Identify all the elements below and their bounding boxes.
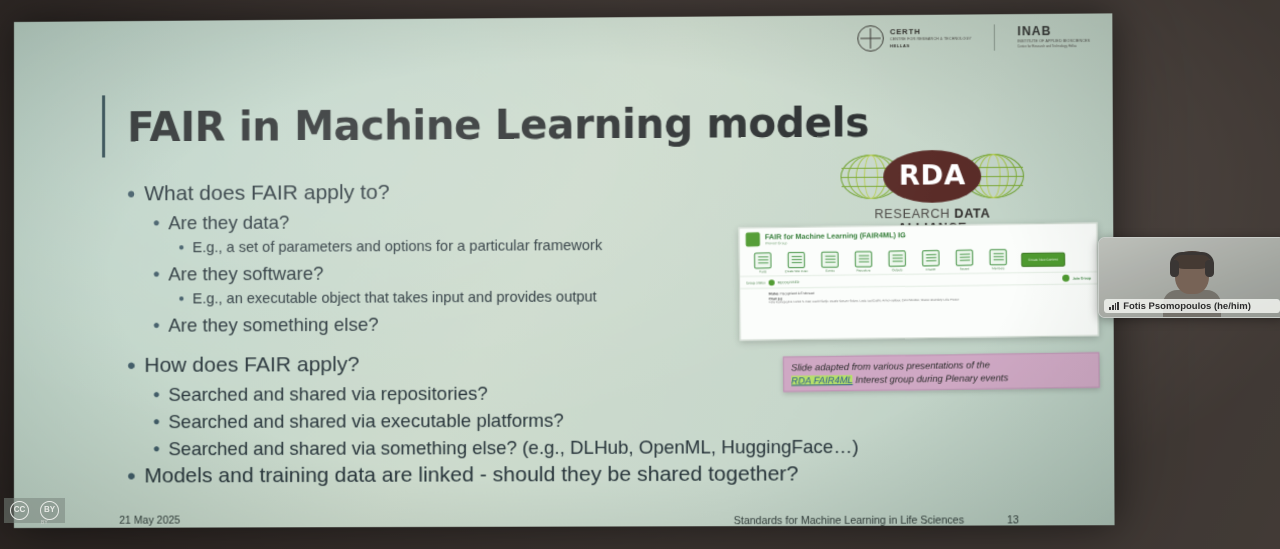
inab-logo: INAB INSTITUTE OF APPLIED BIOSCIENCES Ce… [1017,25,1090,49]
title-accent-bar [102,95,105,157]
members-icon [989,249,1007,265]
signal-strength-icon [1109,302,1119,310]
cc-attribution-icon: BY [40,501,59,520]
video-background [1099,238,1280,317]
bullet-dot: ● [118,353,144,379]
nav-label: Members [981,267,1015,271]
join-group-button[interactable]: Join Group [1062,275,1091,282]
bullet-item: ●Searched and shared via executable plat… [118,406,887,434]
group-avatar-icon [746,232,760,246]
folder-icon [855,251,873,267]
headphone-left-icon [1170,260,1179,277]
nav-label: Create Wiki Index [780,270,814,274]
outputs-icon [888,250,906,266]
bullet-text: Are they software? [168,261,323,287]
license-caption: BY [41,520,48,526]
nav-item-posts[interactable]: Posts [746,252,780,274]
certh-logo: CERTH CENTRE FOR RESEARCH & TECHNOLOGY H… [857,25,971,52]
inab-line3: Centre for Research and Technology Hella… [1017,45,1089,49]
bullet-text: What does FAIR apply to? [144,180,389,208]
bullet-dot: ● [144,436,168,461]
slide-header-logos: CERTH CENTRE FOR RESEARCH & TECHNOLOGY H… [857,24,1090,52]
creative-commons-icon: CC [10,501,29,520]
join-group-label: Join Group [1072,276,1091,280]
credit-line-2-suffix: Interest group during Plenary events [853,372,1009,384]
footer-date: 21 May 2025 [119,515,180,527]
headset-band-icon [1170,252,1214,264]
rda-fair4ml-link[interactable]: RDA FAIR4ML [791,374,853,385]
rda-website-screenshot: FAIR for Machine Learning (FAIR4ML) IG I… [738,222,1098,340]
participant-avatar [1164,254,1220,316]
nav-item-events[interactable]: Events [813,251,847,273]
bullet-dot: ● [118,181,144,207]
inab-name: INAB [1017,25,1090,38]
participant-body [1163,290,1221,318]
join-icon [1062,275,1069,282]
nav-label: Charter [914,268,948,272]
participant-name-bar: Fotis Psomopoulos (he/him) [1104,299,1280,313]
bullet-dot: ● [144,382,168,407]
certh-name: CERTH [890,28,972,36]
status-dot-icon [768,279,774,285]
nav-item-repository[interactable]: Repository [847,251,881,273]
group-subtitle: Interest Group [765,240,906,246]
rda-logo: RDA RESEARCH DATA ALLIANCE [839,150,1025,236]
footer-page-number: 13 [1007,514,1019,526]
bullet-item: ●Models and training data are linked - s… [118,461,887,490]
participant-name: Fotis Psomopoulos (he/him) [1123,301,1251,312]
clipboard-icon [922,250,940,266]
bullet-text: E.g., a set of parameters and options fo… [192,235,602,259]
bullet-text: E.g., an executable object that takes in… [192,286,596,310]
rda-tagline-2: DATA [954,206,990,220]
video-participant-tile[interactable]: Fotis Psomopoulos (he/him) [1098,237,1280,318]
participant-hair [1174,251,1210,269]
nav-label: Recent [948,268,982,272]
bullet-dot: ● [144,409,168,434]
bullet-dot: ● [118,463,144,489]
footer-title: Standards for Machine Learning in Life S… [734,514,964,527]
bullet-text: Searched and shared via executable platf… [168,408,563,435]
nav-item-charter[interactable]: Charter [914,250,948,272]
screenshot-footer: Status: Recognised & Endorsed Chair (s):… [740,284,1097,308]
group-status-label: Group Status [746,281,765,285]
headphone-right-icon [1205,260,1214,277]
wiki-icon [788,252,805,268]
credit-callout: Slide adapted from various presentations… [783,352,1100,392]
group-status: Group Status RECOGNISED [746,279,799,286]
bullet-item: ●Searched and shared via repositories? [118,379,887,407]
bullet-item: ●How does FAIR apply? [118,350,887,379]
bullet-text: Are they something else? [168,312,378,338]
calendar-icon [821,251,838,267]
recent-icon [956,250,974,266]
page-title: FAIR in Machine Learning models [127,100,869,151]
bullet-text: Searched and shared via repositories? [168,381,487,407]
nav-label: Outputs [880,269,914,273]
posts-icon [754,252,771,268]
bullet-dot: ● [144,313,168,338]
rda-tagline-1: RESEARCH [874,207,954,222]
nav-label: Posts [746,270,780,274]
logo-divider [994,24,995,50]
status-value: Recognised & Endorsed [780,292,814,297]
group-status-value: RECOGNISED [777,280,799,284]
participant-head [1175,254,1209,294]
certh-line3: HELLAS [890,42,972,48]
create-content-button[interactable]: Create New Content [1021,252,1065,267]
bullet-text: Searched and shared via something else? … [168,434,858,462]
projected-slide: CERTH CENTRE FOR RESEARCH & TECHNOLOGY H… [14,13,1115,528]
nav-label: Events [813,270,847,274]
nav-item-members[interactable]: Members [981,249,1015,271]
bullet-text: How does FAIR apply? [144,352,359,379]
nav-label: Repository [847,269,881,273]
nav-item-recent[interactable]: Recent [947,249,981,271]
bullet-item: ●What does FAIR apply to? [118,177,886,208]
bullet-text: Are they data? [168,210,289,236]
bullet-dot: ● [144,261,168,286]
bullet-item: ●Searched and shared via something else?… [118,434,887,462]
nav-item-outputs[interactable]: Outputs [880,250,914,272]
bullet-dot: ● [170,288,192,310]
bullet-text: Models and training data are linked - sh… [144,461,798,489]
bullet-dot: ● [144,210,168,235]
certh-globe-icon [857,25,884,51]
bullet-dot: ● [170,237,192,259]
license-badges: CC BY BY [4,498,65,523]
nav-item-wiki[interactable]: Create Wiki Index [779,252,813,274]
certh-line2: CENTRE FOR RESEARCH & TECHNOLOGY [890,37,972,42]
